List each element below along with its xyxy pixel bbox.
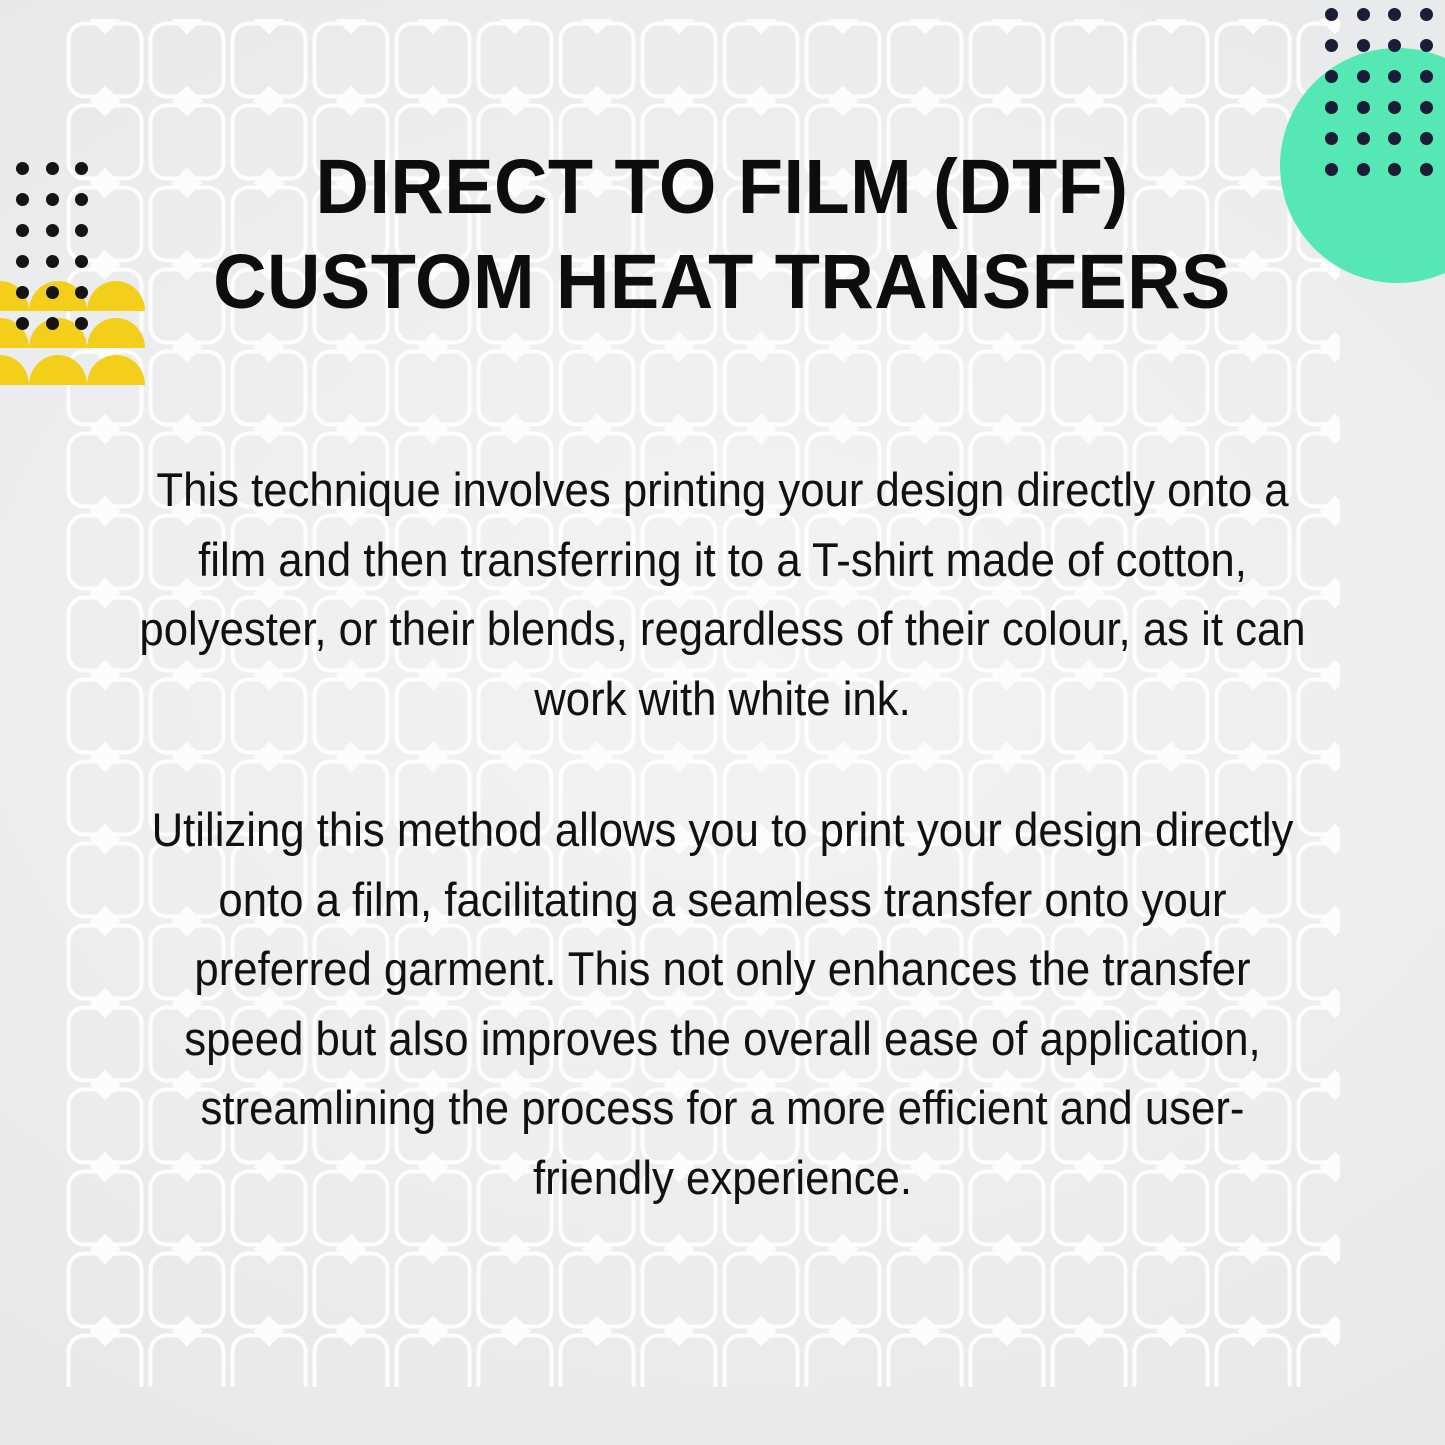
page-title-line-1: DIRECT TO FILM (DTF) [194,140,1250,235]
body-paragraph-2: Utilizing this method allows you to prin… [134,795,1310,1212]
body-paragraph-2-container: Utilizing this method allows you to prin… [134,795,1310,1212]
navy-dot-grid [1323,0,1445,175]
page-title: DIRECT TO FILM (DTF) CUSTOM HEAT TRANSFE… [194,140,1250,331]
poster-canvas: DIRECT TO FILM (DTF) CUSTOM HEAT TRANSFE… [0,0,1445,1445]
black-dot-grid [8,160,100,355]
page-title-line-2: CUSTOM HEAT TRANSFERS [194,235,1250,330]
body-paragraph-1-container: This technique involves printing your de… [134,455,1310,733]
body-paragraph-1: This technique involves printing your de… [134,455,1310,733]
